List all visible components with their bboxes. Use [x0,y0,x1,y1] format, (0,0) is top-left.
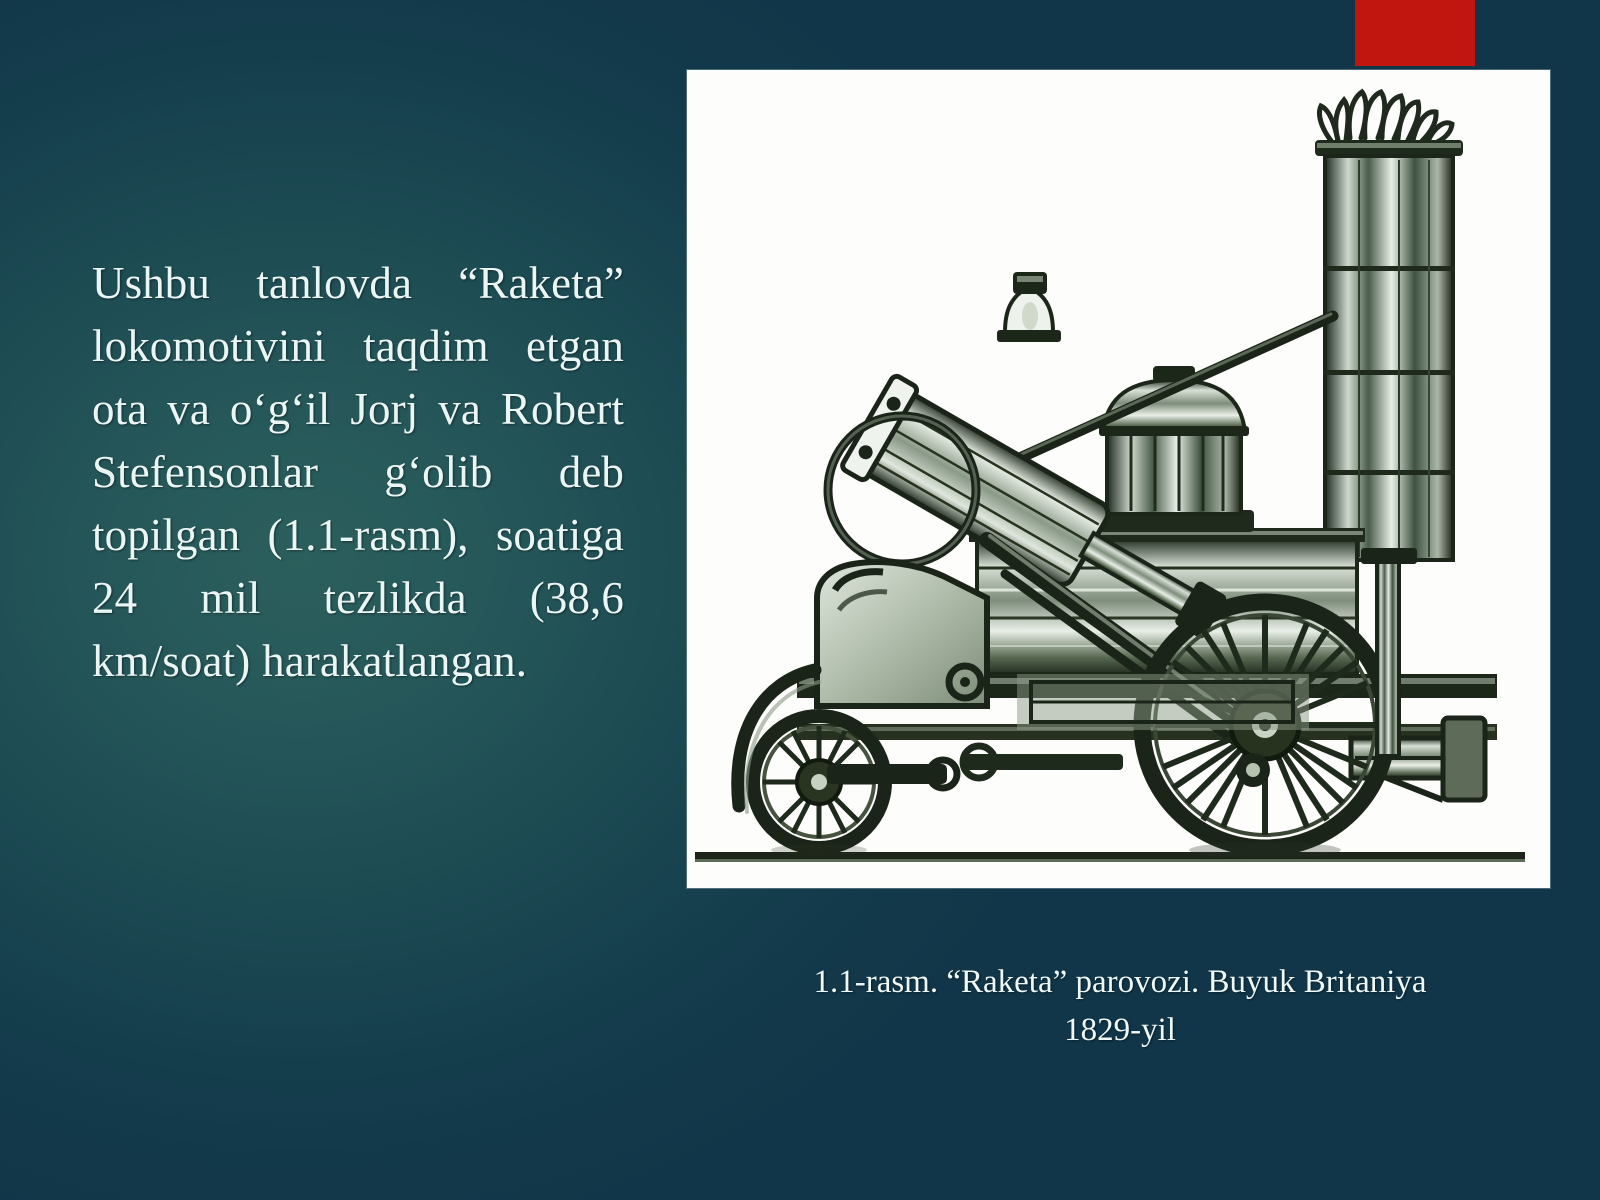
figure-caption: 1.1-rasm. “Raketa” parovozi. Buyuk Brita… [690,958,1550,1054]
tender-plate [817,562,987,706]
figure-caption-line-2: 1829-yil [690,1006,1550,1054]
figure-image-panel [687,70,1550,888]
smokestack [1315,92,1463,560]
firebox [1017,674,1309,730]
red-accent-bar [1355,0,1475,66]
body-paragraph: Ushbu tanlovda “Raketa” lokomotivini taq… [92,252,624,693]
figure-caption-line-1: 1.1-rasm. “Raketa” parovozi. Buyuk Brita… [690,958,1550,1006]
rocket-locomotive-engraving [687,70,1550,888]
slide-canvas: Ushbu tanlovda “Raketa” lokomotivini taq… [0,0,1600,1200]
